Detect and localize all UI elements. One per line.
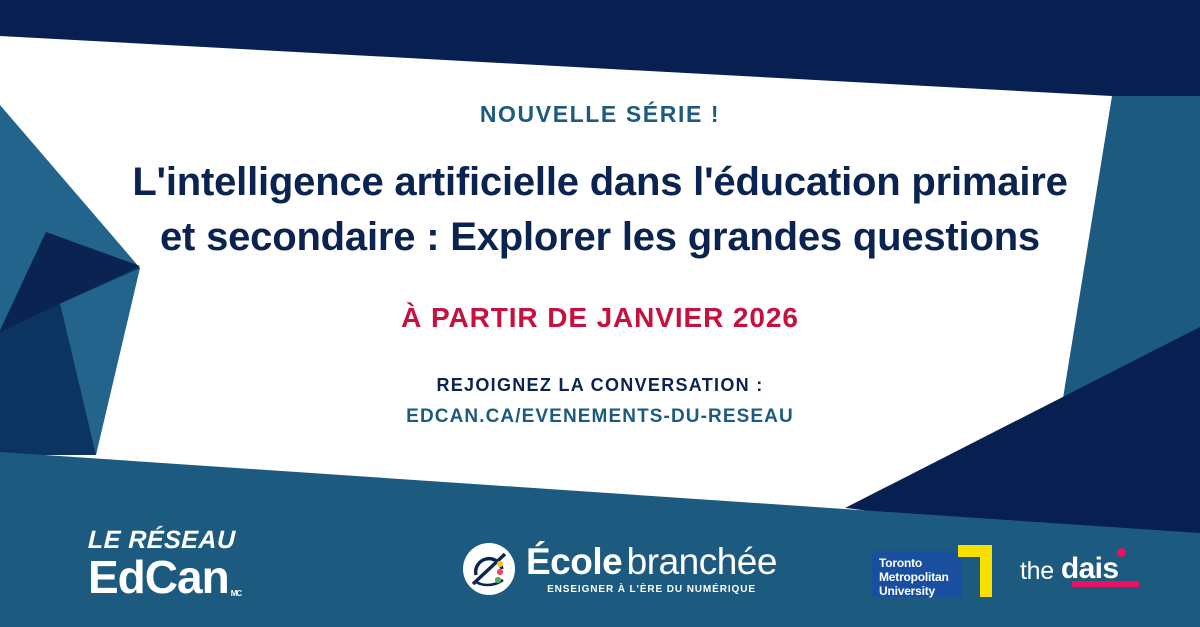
ecole-branchee-logo: École branchée ENSEIGNER À L'ÈRE DU NUMÉ… xyxy=(462,538,752,600)
ecole-branchee-tagline: ENSEIGNER À L'ÈRE DU NUMÉRIQUE xyxy=(526,584,777,595)
start-date-text: À PARTIR DE JANVIER 2026 xyxy=(0,302,1200,334)
edcan-trademark-mark: MC xyxy=(231,590,241,598)
headline-line-2: et secondaire : Explorer les grandes que… xyxy=(55,210,1145,265)
headline-line-1: L'intelligence artificielle dans l'éduca… xyxy=(55,155,1145,210)
toronto-metropolitan-university-logo: Toronto Metropolitan University xyxy=(872,545,1007,597)
the-dais-logo: the dais xyxy=(1020,552,1140,596)
ecole-branchee-emblem-icon xyxy=(462,542,516,596)
edcan-logo: LE RÉSEAU EdCanMC xyxy=(88,528,278,606)
eyebrow-label: NOUVELLE SÉRIE ! xyxy=(0,101,1200,128)
tmu-yellow-bracket-icon xyxy=(958,545,992,597)
the-dais-article: the xyxy=(1020,557,1054,586)
page-title: L'intelligence artificielle dans l'éduca… xyxy=(55,155,1145,265)
edcan-logo-name: EdCan xyxy=(88,551,229,603)
cta-url[interactable]: EDCAN.CA/EVENEMENTS-DU-RESEAU xyxy=(0,406,1200,428)
ecole-branchee-name-light: branchée xyxy=(627,541,777,582)
the-dais-underline xyxy=(1072,581,1139,587)
ecole-branchee-text: École branchée ENSEIGNER À L'ÈRE DU NUMÉ… xyxy=(526,543,777,595)
cta-label: REJOIGNEZ LA CONVERSATION : xyxy=(0,375,1200,396)
the-dais-dot-icon xyxy=(1117,548,1126,557)
edcan-logo-wordmark: EdCanMC xyxy=(88,554,278,600)
edcan-logo-top-text: LE RÉSEAU xyxy=(88,528,279,553)
ecole-branchee-name-bold: École xyxy=(526,541,622,582)
promo-poster: NOUVELLE SÉRIE ! L'intelligence artifici… xyxy=(0,0,1200,627)
tmu-line-3: University xyxy=(879,584,962,598)
tmu-name-box: Toronto Metropolitan University xyxy=(872,551,962,597)
tmu-line-1: Toronto xyxy=(879,556,962,570)
the-dais-wordmark: the dais xyxy=(1020,552,1140,586)
tmu-line-2: Metropolitan xyxy=(879,570,962,584)
ecole-branchee-wordmark: École branchée xyxy=(526,543,777,580)
